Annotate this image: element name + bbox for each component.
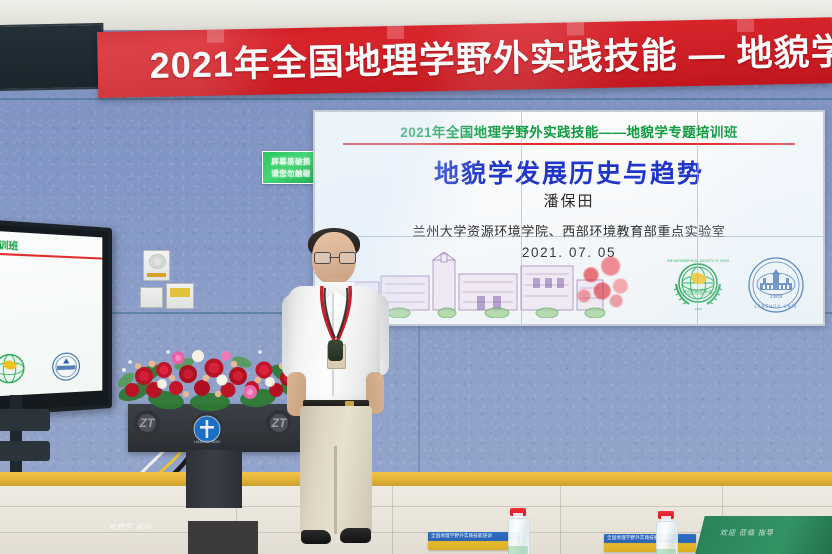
warning-line-2: 请您勿触碰 xyxy=(271,168,311,179)
projection-screen[interactable]: 2021年全国地理学野外实践技能——地貌学专题培训班 地貌学发展历史与趋势 潘保… xyxy=(313,110,825,326)
podium-left-mark: ZT xyxy=(134,410,160,436)
warning-line-1: 屏幕易破损 xyxy=(271,156,311,167)
microphone-transmitter xyxy=(328,340,343,361)
podium-column xyxy=(186,450,242,508)
yellow-baseboard xyxy=(0,472,832,486)
emergency-indicator-panel[interactable] xyxy=(140,287,163,308)
water-bottle-1[interactable] xyxy=(506,508,530,554)
speaker-grille-icon xyxy=(149,254,166,269)
svg-text:LANZHOU UNIV: LANZHOU UNIV xyxy=(194,440,221,444)
left-monitor-title: 趋势 xyxy=(0,257,102,288)
bottle-label xyxy=(656,549,676,554)
presenter xyxy=(283,232,389,542)
wall-speaker-box xyxy=(143,250,170,281)
speaker-label-strip xyxy=(147,273,166,277)
left-monitor-screen: 貌学专题培训班 趋势 育部重点实验室 xyxy=(0,231,102,397)
eyeglasses-icon xyxy=(314,252,354,263)
podium-university-crest: LANZHOU UNIV xyxy=(190,412,224,446)
lecture-podium: LANZHOU UNIV ZT ZT xyxy=(128,404,300,508)
control-switch-panel[interactable] xyxy=(166,283,194,309)
presenter-right-shoe xyxy=(340,528,371,543)
lecture-hall-photo: 2021年全国地理学野外实践技能 — 地貌学 屏幕易破损 请您勿触碰 2021年… xyxy=(0,0,832,554)
screen-glare xyxy=(315,112,823,324)
left-monitor-logos xyxy=(0,348,100,390)
top-left-display-panel xyxy=(0,23,105,91)
screen-warning-sign: 屏幕易破损 请您勿触碰 xyxy=(262,151,320,184)
floor-runner-right: 欢迎 莅临 指导 xyxy=(695,516,832,554)
floor-runner-right-text: 欢迎 莅临 指导 xyxy=(719,528,775,538)
foreground-chair-back xyxy=(188,521,258,554)
trouser-seam xyxy=(334,446,337,534)
water-bottle-2[interactable] xyxy=(654,511,678,554)
bottle-label xyxy=(508,546,528,554)
table-nameplate-2: 全国地理学野外实践技能培训 xyxy=(604,534,696,552)
nameplate-1-text: 全国地理学野外实践技能培训 xyxy=(431,534,492,539)
presenter-left-shoe xyxy=(301,530,331,544)
left-monitor-affiliation: 育部重点实验室 xyxy=(0,295,102,309)
left-display-monitor[interactable]: 貌学专题培训班 趋势 育部重点实验室 xyxy=(0,219,112,417)
floor-runner-left-text: 地貌学 培训 xyxy=(107,522,154,532)
